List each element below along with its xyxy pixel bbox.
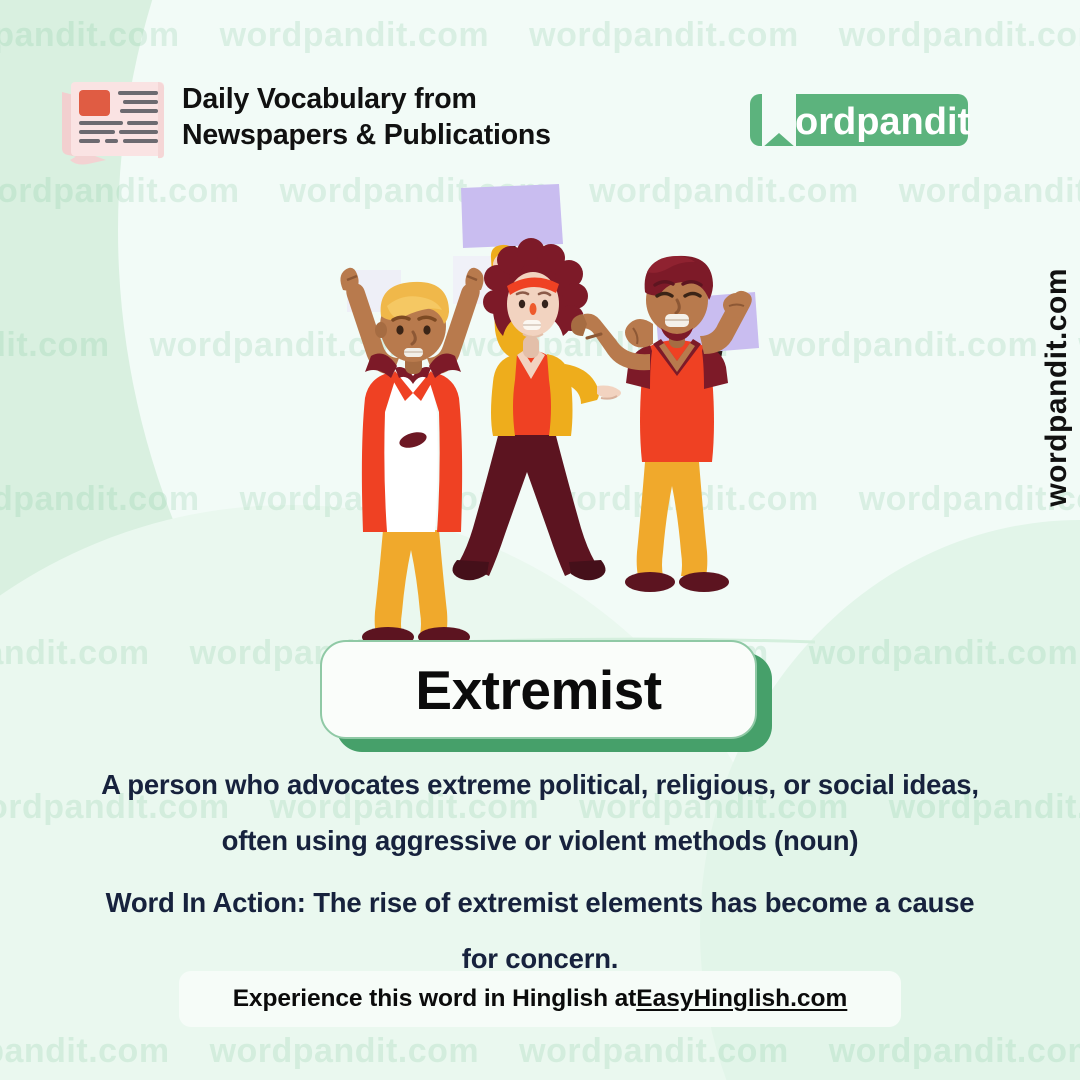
example-line-1: Word In Action: The rise of extremist el…: [0, 875, 1080, 931]
definition-line-2: often using aggressive or violent method…: [0, 813, 1080, 869]
protester-center-woman-with-placard: [452, 184, 621, 580]
protester-right-shouting-with-placard: [571, 256, 759, 592]
word-copy-block: A person who advocates extreme political…: [0, 757, 1080, 987]
footer-banner: Experience this word in Hinglish at Easy…: [179, 971, 901, 1027]
definition-line-1: A person who advocates extreme political…: [0, 757, 1080, 813]
page-title-line-1: Daily Vocabulary from: [182, 82, 551, 118]
placard-center: [461, 184, 563, 248]
page-title-line-2: Newspapers & Publications: [182, 118, 551, 154]
page-title: Daily Vocabulary from Newspapers & Publi…: [182, 82, 551, 153]
three-protesters-illustration: [325, 178, 815, 658]
word-card-face: Extremist: [320, 640, 757, 739]
vocabulary-card-canvas: wordpandit.comwordpandit.comwordpandit.c…: [0, 0, 1080, 1080]
wordpandit-logo[interactable]: ordpandit: [748, 88, 970, 150]
header: Daily Vocabulary from Newspapers & Publi…: [0, 0, 1080, 190]
vocabulary-word: Extremist: [415, 658, 661, 722]
easyhinglish-link[interactable]: EasyHinglish.com: [636, 985, 847, 1013]
svg-text:ordpandit: ordpandit: [795, 101, 970, 143]
word-card: Extremist: [320, 640, 772, 752]
protester-left-arms-raised: [340, 268, 483, 647]
side-url-label: wordpandit.com: [1040, 268, 1074, 507]
newspaper-icon: [54, 74, 172, 166]
footer-label: Experience this word in Hinglish at: [233, 985, 637, 1013]
definition-text: A person who advocates extreme political…: [0, 757, 1080, 869]
